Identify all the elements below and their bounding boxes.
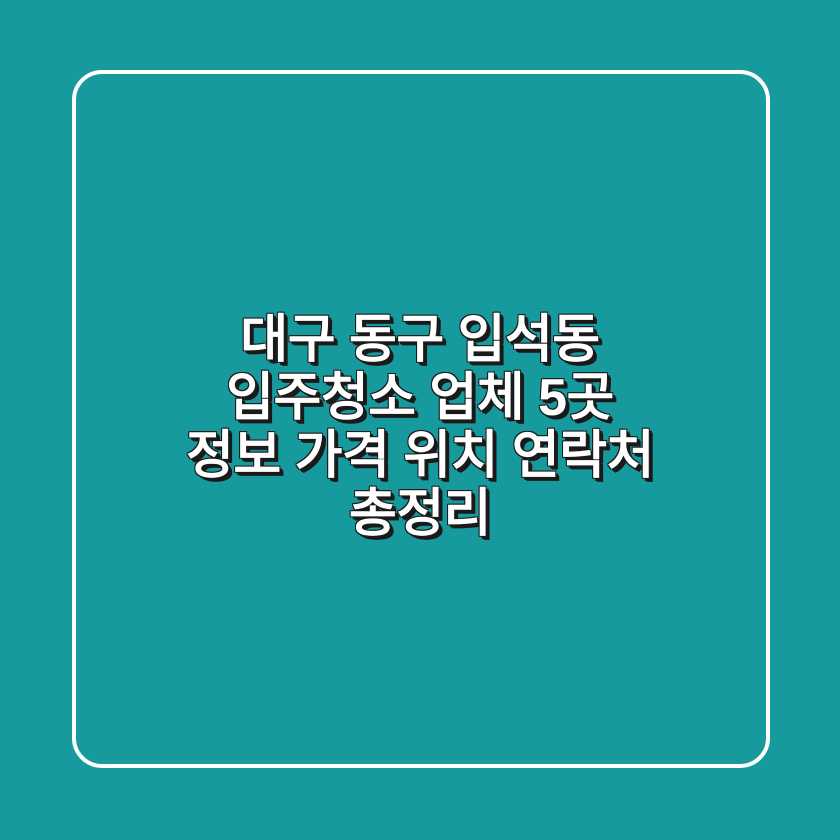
thumbnail-card: 대구 동구 입석동 입주청소 업체 5곳 정보 가격 위치 연락처 총정리 [0, 0, 840, 840]
title-line-4: 총정리 [0, 485, 840, 543]
title-line-3: 정보 가격 위치 연락처 [0, 427, 840, 485]
title-line-2: 입주청소 업체 5곳 [0, 369, 840, 427]
title-line-1: 대구 동구 입석동 [0, 311, 840, 369]
title-block: 대구 동구 입석동 입주청소 업체 5곳 정보 가격 위치 연락처 총정리 [0, 0, 840, 840]
